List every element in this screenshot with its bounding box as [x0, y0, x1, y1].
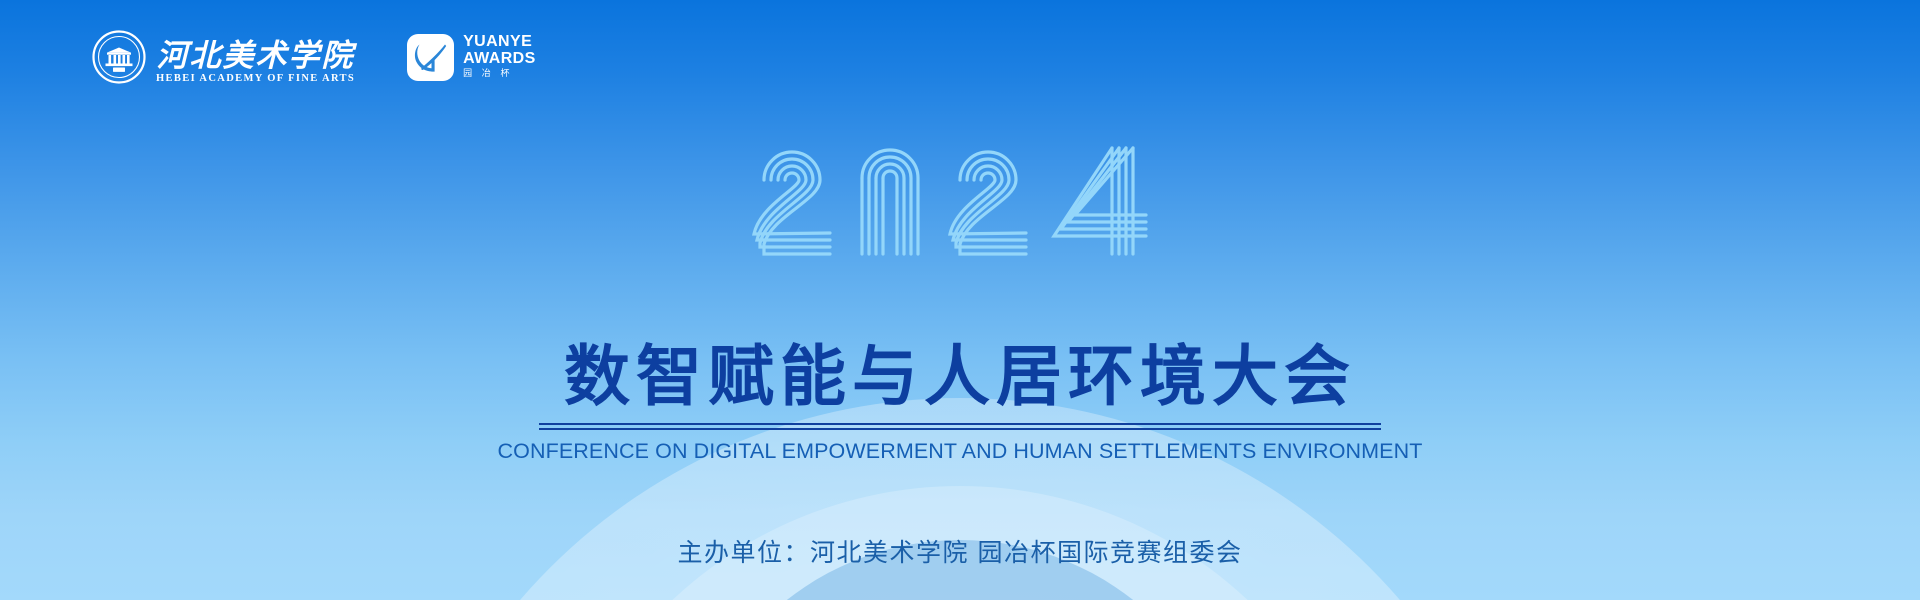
yuanye-line-2: AWARDS: [463, 51, 536, 68]
organizer-line: 主办单位：河北美术学院 园冶杯国际竞赛组委会: [678, 533, 1243, 569]
hebei-academy-name-cn: 河北美术学院: [157, 39, 355, 72]
yuanye-wordmark: YUANYE AWARDS 园 冶 杯: [463, 34, 536, 80]
hebei-academy-logo: 河北美术学院 HEBEI ACADEMY OF FINE ARTS: [92, 30, 355, 84]
conference-title-en: CONFERENCE ON DIGITAL EMPOWERMENT AND HU…: [460, 439, 1460, 464]
yuanye-name-cn: 园 冶 杯: [463, 68, 536, 80]
conference-title-cn: 数智赋能与人居环境大会: [460, 340, 1460, 413]
logo-row: 河北美术学院 HEBEI ACADEMY OF FINE ARTS YUANYE…: [92, 30, 536, 84]
title-divider: [460, 423, 1460, 430]
yuanye-awards-logo: YUANYE AWARDS 园 冶 杯: [407, 34, 536, 81]
yuanye-line-1: YUANYE: [463, 34, 536, 51]
year-2024-graphic: [750, 136, 1170, 266]
divider-line-top: [539, 423, 1381, 425]
academy-seal-icon: [92, 30, 146, 84]
conference-banner: 河北美术学院 HEBEI ACADEMY OF FINE ARTS YUANYE…: [0, 0, 1920, 600]
hebei-academy-name-en: HEBEI ACADEMY OF FINE ARTS: [156, 73, 355, 84]
divider-line-bottom: [539, 428, 1381, 430]
title-block: 数智赋能与人居环境大会 CONFERENCE ON DIGITAL EMPOWE…: [460, 340, 1460, 464]
hebei-academy-wordmark: 河北美术学院 HEBEI ACADEMY OF FINE ARTS: [156, 39, 355, 84]
yuanye-leaf-icon: [407, 34, 454, 81]
